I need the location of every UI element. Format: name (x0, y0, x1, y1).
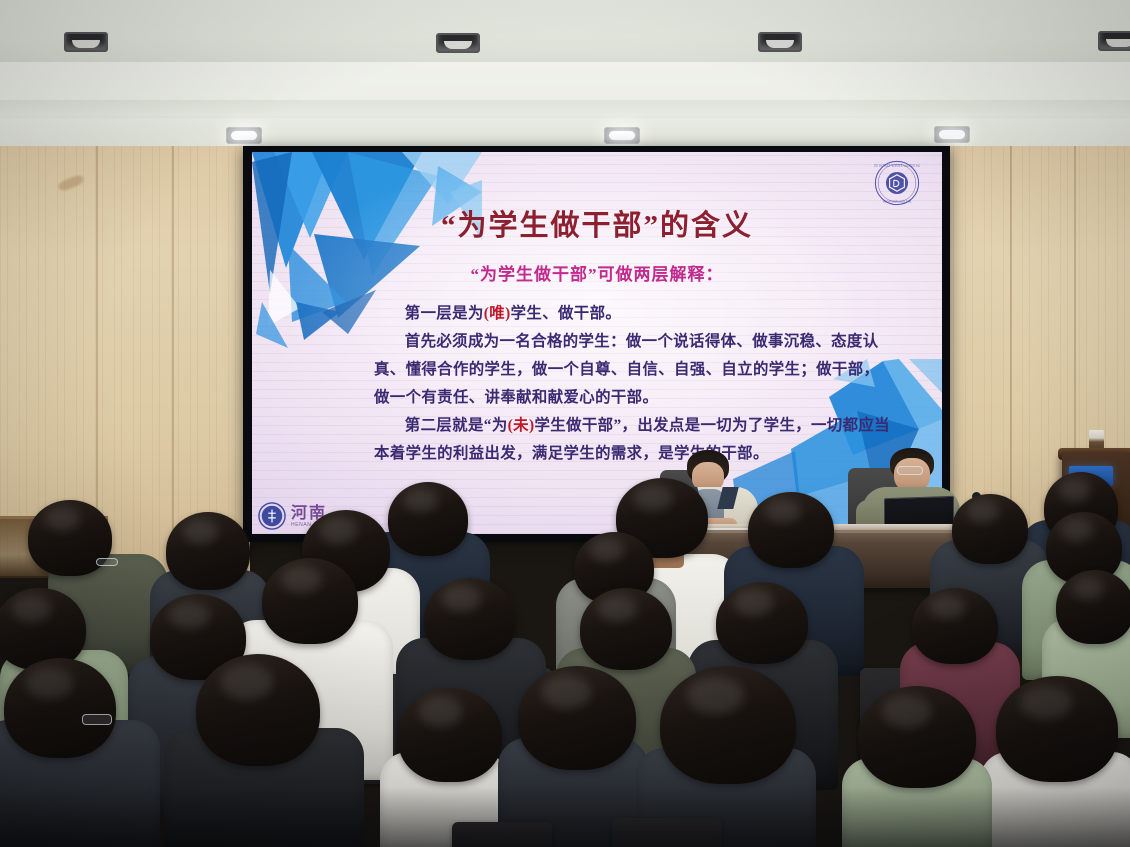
slide-subtitle: “为学生做干部”可做两层解释： (252, 260, 942, 285)
recessed-light-lit-icon (934, 126, 970, 143)
slide-body: 第一层是为(唯)学生、做干部。 首先必须成为一名合格的学生：做一个说话得体、做事… (374, 300, 894, 468)
recessed-light-icon (64, 32, 108, 52)
cup-on-podium (1089, 430, 1104, 450)
audience-head (388, 482, 468, 556)
audience-head (912, 588, 998, 664)
recessed-light-icon (436, 33, 480, 53)
audience-head (996, 676, 1118, 782)
audience-head (660, 666, 796, 784)
lecture-hall-scene: \u2022 \u2022 \u2022 \u2022 \u2022 VOCAT… (0, 0, 1130, 847)
para1-pre: 第一层是为 (405, 305, 484, 322)
audience-head (166, 512, 250, 590)
svg-text:\u2022 \u2022 \u2022 \u2022 \u: \u2022 \u2022 \u2022 \u2022 \u2022 (874, 163, 920, 167)
audience-head (952, 494, 1028, 564)
para3-highlight: (未) (508, 417, 535, 434)
para1-post: 学生、做干部。 (511, 305, 622, 322)
audience-head (262, 558, 358, 644)
audience-head (4, 658, 116, 758)
audience-glasses-icon (96, 558, 118, 566)
recessed-light-icon (758, 32, 802, 52)
slide-paragraph-1: 第一层是为(唯)学生、做干部。 (374, 300, 894, 328)
audience-head (1056, 570, 1130, 644)
seat-back (452, 822, 552, 847)
audience-head (424, 578, 516, 660)
para2-pre: 首先必须成为一名合格的学生：做一个说话得体、做事沉稳、态度认真、懂得合作的学生，… (374, 333, 879, 406)
slide-paragraph-3: 第二层就是“为(未)学生做干部”，出发点是一切为了学生，一切都应当本着学生的利益… (374, 412, 894, 468)
audience-head (196, 654, 320, 766)
slide-paragraph-2: 首先必须成为一名合格的学生：做一个说话得体、做事沉稳、态度认真、懂得合作的学生，… (374, 328, 894, 412)
para3-pre: 第二层就是“为 (405, 417, 508, 434)
audience-area: JUS (0, 470, 1130, 847)
audience-head (716, 582, 808, 664)
audience-head (518, 666, 636, 770)
recessed-light-icon (1098, 31, 1130, 51)
audience-head (580, 588, 672, 670)
audience-head (858, 686, 976, 788)
recessed-light-lit-icon (226, 127, 262, 144)
ceiling-upper-surface (0, 0, 1130, 62)
recessed-light-lit-icon (604, 127, 640, 144)
audience-glasses-icon (82, 714, 112, 725)
seat-back (612, 818, 722, 847)
audience-head (748, 492, 834, 568)
audience-head (398, 688, 502, 782)
slide-title: “为学生做干部”的含义 (252, 202, 942, 244)
para1-highlight: (唯) (484, 305, 511, 322)
university-seal-icon: \u2022 \u2022 \u2022 \u2022 \u2022 VOCAT… (874, 160, 920, 206)
audience-head (0, 588, 86, 670)
